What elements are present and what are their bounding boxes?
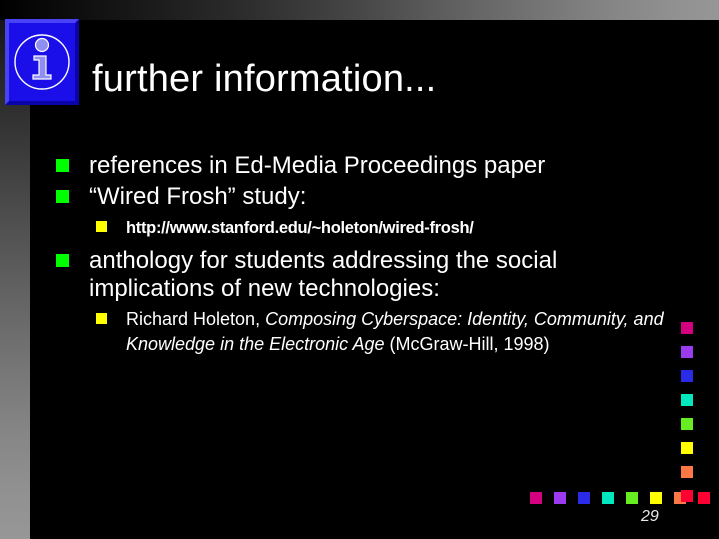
yellow-square-bullet-icon: [96, 313, 107, 324]
color-swatch-vertical: [681, 418, 693, 430]
list-item: references in Ed-Media Proceedings paper: [56, 152, 676, 180]
list-item-label: references in Ed-Media Proceedings paper: [89, 152, 545, 179]
color-swatch-vertical: [681, 346, 693, 358]
color-swatch-horizontal: [602, 492, 614, 504]
page-number: 29: [641, 509, 659, 525]
color-swatch-horizontal: [698, 492, 710, 504]
color-swatch-vertical: [681, 466, 693, 478]
list-item-label: anthology for students addressing the so…: [89, 247, 557, 302]
information-icon-face: [9, 23, 75, 101]
citation-publisher: (McGraw-Hill, 1998): [385, 334, 550, 354]
color-swatch-horizontal: [578, 492, 590, 504]
green-square-bullet-icon: [56, 254, 69, 267]
citation-author: Richard Holeton,: [126, 309, 265, 329]
color-swatch-vertical: [681, 370, 693, 382]
top-gradient-strip: [0, 0, 719, 20]
information-icon: [5, 19, 79, 105]
list-item-label: “Wired Frosh” study:: [89, 183, 306, 210]
list-item-sub: Richard Holeton, Composing Cyberspace: I…: [56, 307, 676, 357]
green-square-bullet-icon: [56, 159, 69, 172]
color-swatch-horizontal: [650, 492, 662, 504]
page-title: further information...: [92, 60, 436, 98]
yellow-square-bullet-icon: [96, 221, 107, 232]
list-item-sub: http://www.stanford.edu/~holeton/wired-f…: [56, 215, 676, 241]
bullet-list: references in Ed-Media Proceedings paper…: [56, 152, 676, 363]
url-link[interactable]: http://www.stanford.edu/~holeton/wired-f…: [126, 219, 474, 237]
color-swatch-vertical: [681, 442, 693, 454]
presentation-slide: further information... references in Ed-…: [0, 0, 719, 539]
color-swatch-horizontal: [530, 492, 542, 504]
green-square-bullet-icon: [56, 190, 69, 203]
color-swatch-horizontal: [626, 492, 638, 504]
color-swatch-vertical: [681, 394, 693, 406]
information-icon-glyph: [9, 23, 75, 101]
color-swatch-vertical: [681, 490, 693, 502]
list-item: “Wired Frosh” study:: [56, 183, 676, 211]
list-item: anthology for students addressing the so…: [56, 247, 676, 303]
color-swatch-vertical: [681, 322, 693, 334]
color-swatch-horizontal: [554, 492, 566, 504]
